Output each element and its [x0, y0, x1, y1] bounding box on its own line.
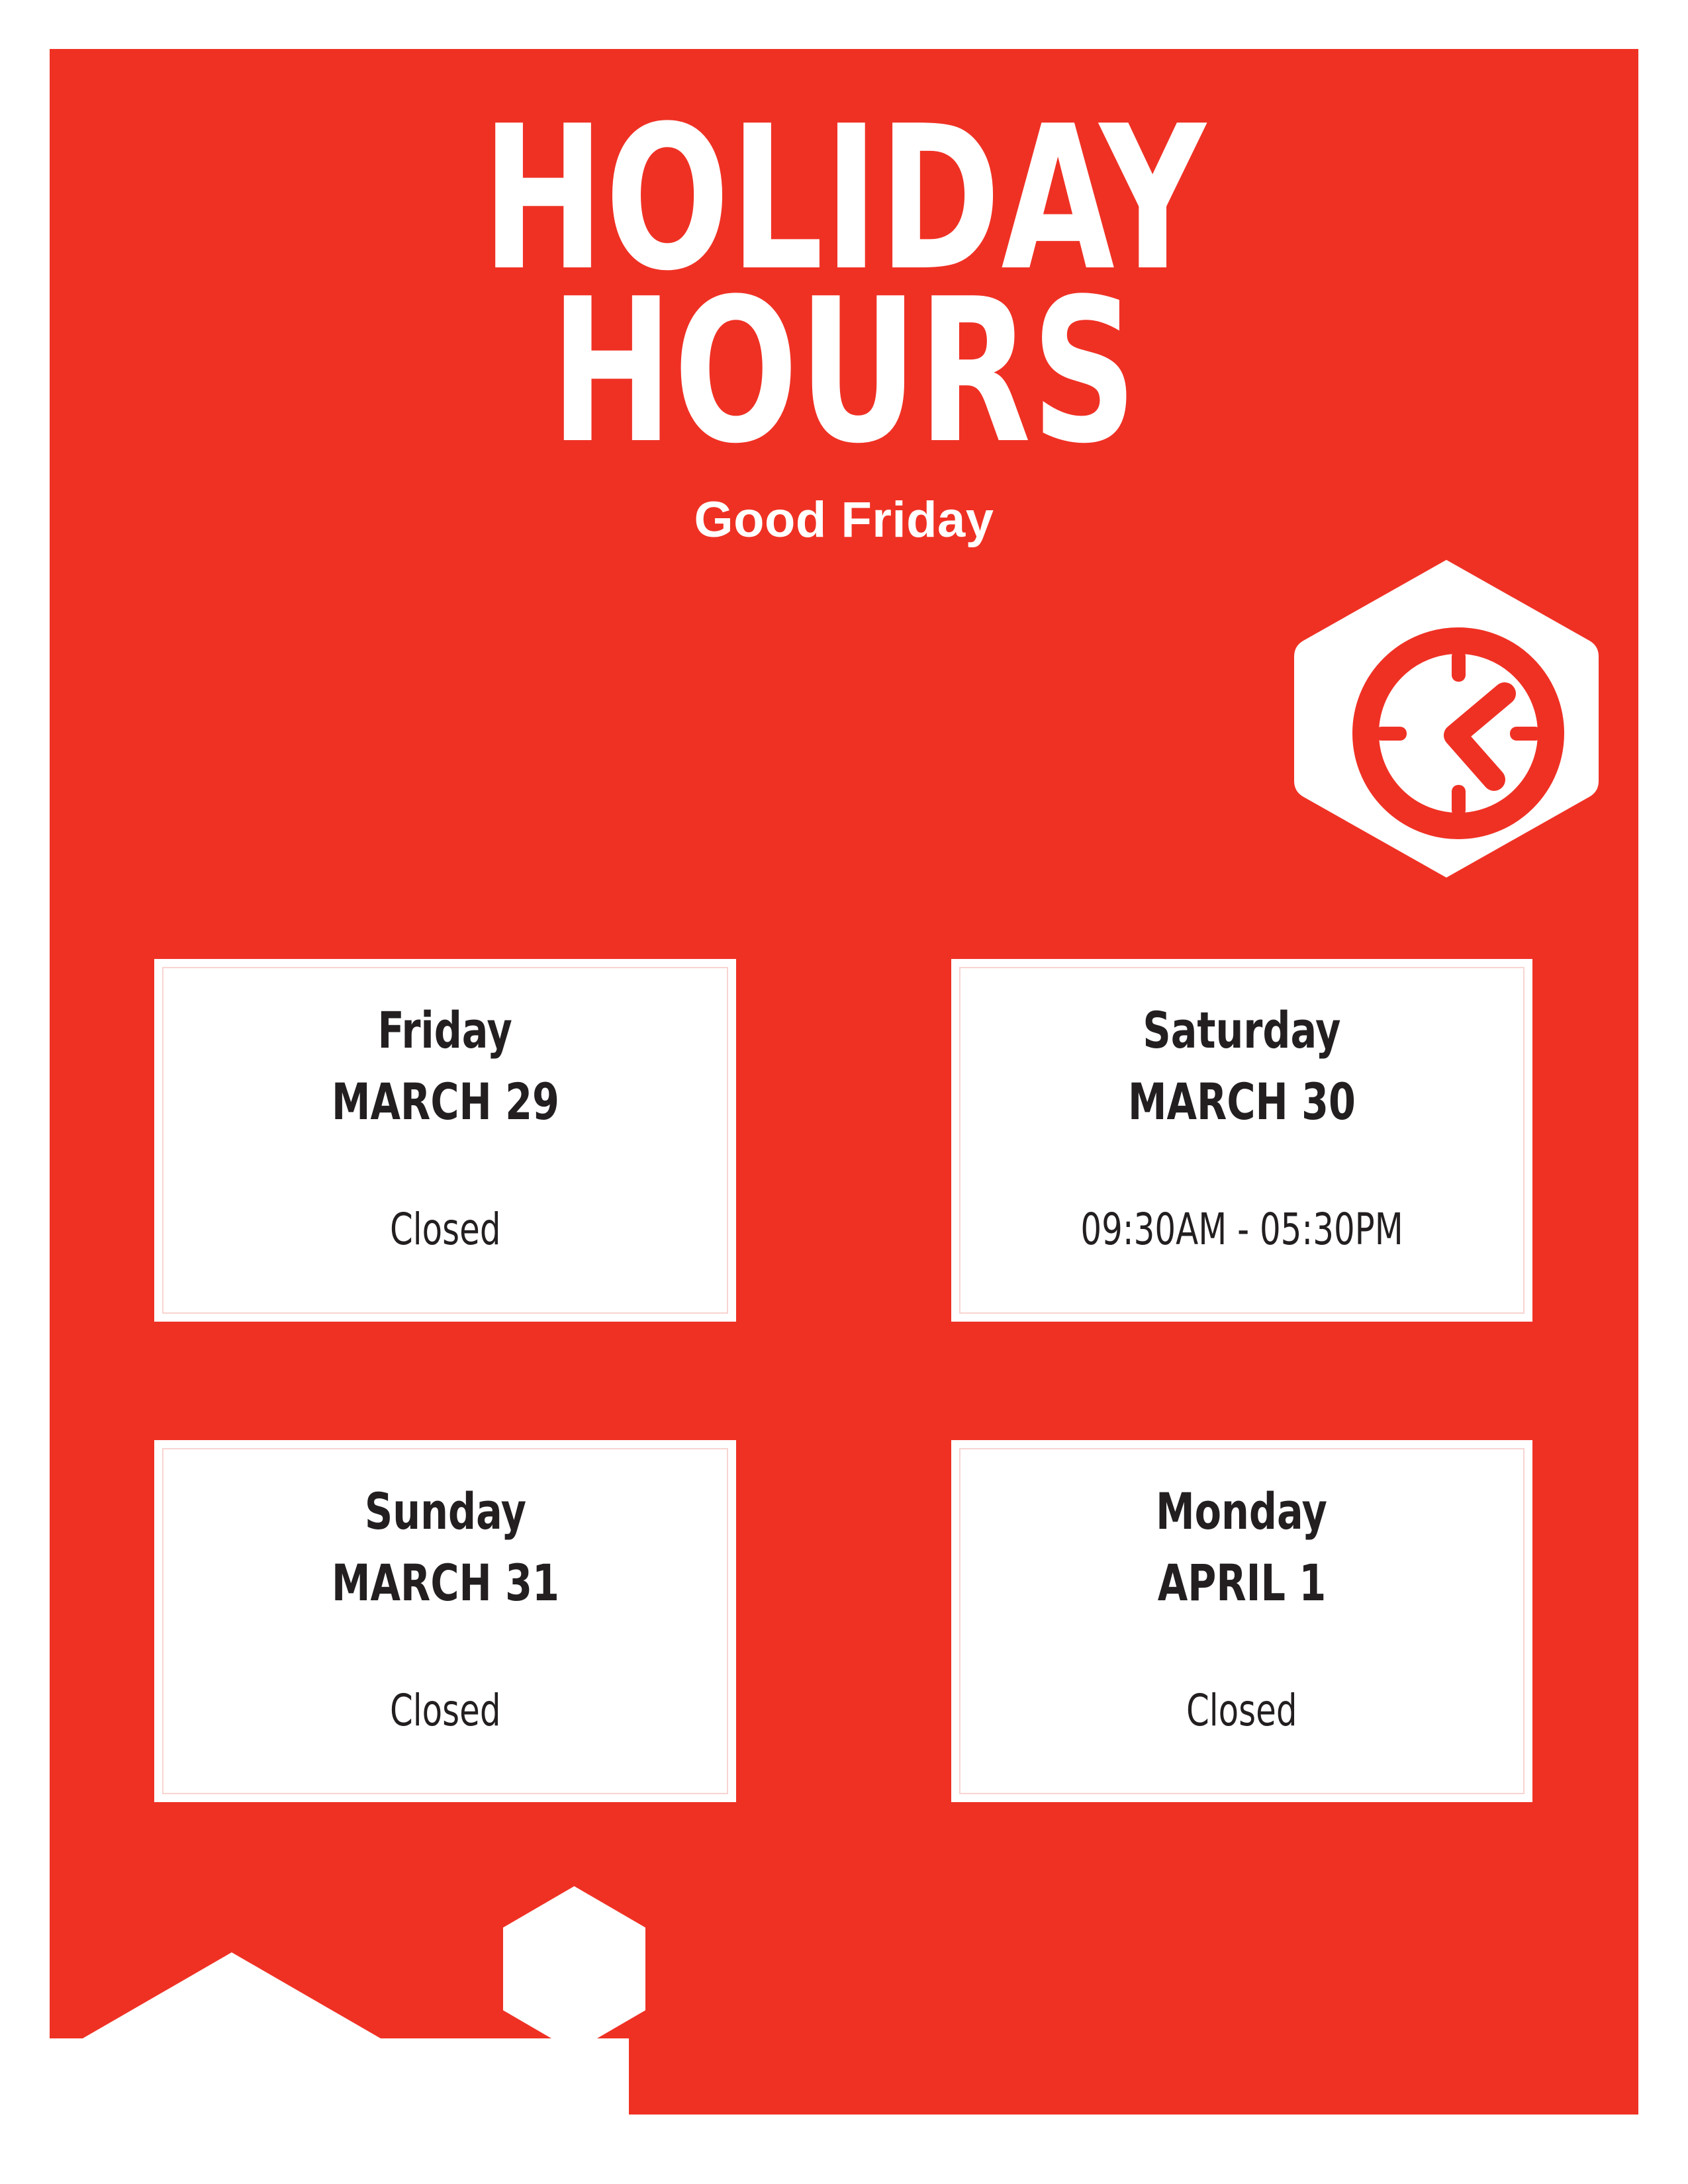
schedule-card-inner: Sunday MARCH 31 Closed	[162, 1448, 728, 1794]
schedule-card-date: MARCH 30	[1128, 1075, 1356, 1128]
schedule-card: Saturday MARCH 30 09:30AM - 05:30PM	[951, 959, 1532, 1322]
schedule-card-date: MARCH 31	[332, 1557, 559, 1610]
holiday-hours-poster: HOLIDAY HOURS Good Friday Friday MARCH 2…	[0, 0, 1688, 2184]
schedule-card-hours: Closed	[390, 1206, 501, 1252]
poster-header: HOLIDAY HOURS Good Friday	[50, 113, 1638, 549]
bottom-edge-fill	[0, 2115, 1688, 2184]
clock-icon	[1294, 556, 1599, 882]
schedule-card-day: Saturday	[1143, 1004, 1340, 1057]
schedule-card-inner: Saturday MARCH 30 09:30AM - 05:30PM	[959, 967, 1524, 1314]
schedule-card-hours: Closed	[1186, 1688, 1297, 1733]
schedule-card-date: MARCH 29	[332, 1075, 559, 1128]
schedule-card: Monday APRIL 1 Closed	[951, 1440, 1532, 1802]
schedule-card: Friday MARCH 29 Closed	[154, 959, 736, 1322]
schedule-card-hours: 09:30AM - 05:30PM	[1080, 1206, 1403, 1252]
schedule-card-day: Sunday	[364, 1485, 526, 1538]
page-title-line-2: HOURS	[193, 285, 1495, 458]
schedule-card-inner: Monday APRIL 1 Closed	[959, 1448, 1524, 1794]
schedule-card-inner: Friday MARCH 29 Closed	[162, 967, 728, 1314]
clock-badge	[1294, 556, 1599, 882]
schedule-card-date: APRIL 1	[1158, 1557, 1327, 1610]
schedule-card-hours: Closed	[390, 1688, 501, 1733]
page-subtitle: Good Friday	[50, 491, 1638, 549]
schedule-card-day: Friday	[378, 1004, 512, 1057]
schedule-card-day: Monday	[1156, 1485, 1328, 1538]
schedule-card: Sunday MARCH 31 Closed	[154, 1440, 736, 1802]
